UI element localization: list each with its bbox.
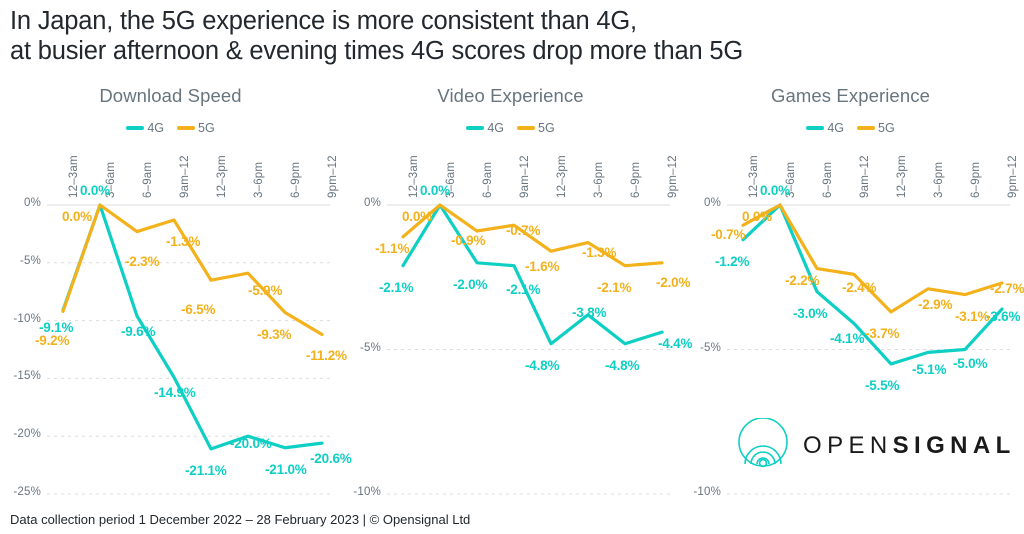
x-axis-tick-label: 9pm–12 <box>1007 155 1019 198</box>
y-axis-tick-label: -5% <box>340 342 381 354</box>
data-point-label: -5.1% <box>912 362 946 377</box>
data-point-label: -3.6% <box>986 309 1020 324</box>
data-point-label: -5.9% <box>248 283 282 298</box>
y-axis-tick-label: -10% <box>680 486 721 498</box>
x-axis-tick-label: 9am–12 <box>859 155 871 198</box>
data-point-label: -2.7% <box>990 281 1024 296</box>
chart-panel: Video Experience4G5G0%-5%-10%12–3am3–6am… <box>340 80 681 505</box>
data-point-label: -5.5% <box>865 378 899 393</box>
y-axis-tick-label: -5% <box>680 342 721 354</box>
data-point-label: -2.1% <box>506 282 540 297</box>
data-point-label: -4.8% <box>605 358 639 373</box>
x-axis-tick-label: 6–9am <box>142 162 154 198</box>
x-axis-tick-label: 9pm–12 <box>327 155 339 198</box>
x-axis-tick-label: 6–9pm <box>290 162 302 198</box>
data-point-label: -3.8% <box>572 305 606 320</box>
data-point-label: -3.7% <box>865 326 899 341</box>
data-point-label: -2.4% <box>842 280 876 295</box>
data-point-label: -6.5% <box>181 302 215 317</box>
series-line-5g <box>743 205 1002 312</box>
logo-word-open: OPEN <box>803 432 893 459</box>
x-axis-tick-label: 9pm–12 <box>667 155 679 198</box>
headline-line-2: at busier afternoon & evening times 4G s… <box>10 36 1014 66</box>
logo-word-signal: SIGNAL <box>893 432 1016 459</box>
x-axis-tick-label: 6–9pm <box>970 162 982 198</box>
data-point-label: -1.1% <box>375 241 409 256</box>
chart-plot-area <box>0 80 341 505</box>
data-point-label: -2.1% <box>379 280 413 295</box>
data-point-label: -2.0% <box>453 277 487 292</box>
data-point-label: -21.1% <box>185 463 227 478</box>
x-axis-tick-label: 6–9pm <box>630 162 642 198</box>
y-axis-tick-label: -25% <box>0 486 41 498</box>
x-axis-tick-label: 12–3pm <box>556 155 568 198</box>
data-point-label: -3.0% <box>793 306 827 321</box>
x-axis-tick-label: 12–3pm <box>896 155 908 198</box>
y-axis-tick-label: -5% <box>0 255 41 267</box>
x-axis-tick-label: 12–3pm <box>216 155 228 198</box>
x-axis-tick-label: 12–3am <box>748 155 760 198</box>
x-axis-tick-label: 9am–12 <box>519 155 531 198</box>
y-axis-tick-label: -20% <box>0 428 41 440</box>
data-point-label: -1.3% <box>582 245 616 260</box>
data-point-label: -2.1% <box>597 280 631 295</box>
y-axis-tick-label: -10% <box>340 486 381 498</box>
x-axis-tick-label: 6–9am <box>822 162 834 198</box>
y-axis-tick-label: 0% <box>0 197 41 209</box>
x-axis-tick-label: 3–6pm <box>933 162 945 198</box>
data-point-label: 0.0% <box>420 183 450 198</box>
data-point-label: -0.9% <box>451 233 485 248</box>
data-point-label: -2.3% <box>125 254 159 269</box>
headline-line-1: In Japan, the 5G experience is more cons… <box>10 6 1014 36</box>
data-point-label: -1.3% <box>166 234 200 249</box>
y-axis-tick-label: 0% <box>680 197 721 209</box>
data-point-label: 0.0% <box>760 183 790 198</box>
x-axis-tick-label: 3–6pm <box>253 162 265 198</box>
x-axis-tick-label: 3–6pm <box>593 162 605 198</box>
data-point-label: 0.0% <box>62 209 92 224</box>
y-axis-tick-label: -15% <box>0 370 41 382</box>
data-point-label: -0.7% <box>711 227 745 242</box>
data-point-label: -20.0% <box>230 436 272 451</box>
y-axis-tick-label: 0% <box>340 197 381 209</box>
x-axis-tick-label: 12–3am <box>68 155 80 198</box>
x-axis-tick-label: 12–3am <box>408 155 420 198</box>
opensignal-wordmark: OPENSIGNAL <box>803 432 1016 460</box>
x-axis-tick-label: 9am–12 <box>179 155 191 198</box>
data-point-label: -4.8% <box>525 358 559 373</box>
data-point-label: -9.2% <box>35 333 69 348</box>
data-point-label: -9.3% <box>257 327 291 342</box>
data-point-label: -5.0% <box>953 356 987 371</box>
chart-panel: Download Speed4G5G0%-5%-10%-15%-20%-25%1… <box>0 80 341 505</box>
y-axis-tick-label: -10% <box>0 313 41 325</box>
data-point-label: -1.2% <box>715 254 749 269</box>
opensignal-rings-icon <box>737 418 789 475</box>
opensignal-logo: OPENSIGNAL <box>737 418 999 474</box>
data-point-label: -14.9% <box>154 385 196 400</box>
data-point-label: 0.0% <box>742 209 772 224</box>
data-point-label: -4.1% <box>830 331 864 346</box>
data-point-label: 0.0% <box>402 209 432 224</box>
data-point-label: -3.1% <box>955 309 989 324</box>
data-point-label: 0.0% <box>80 183 110 198</box>
page-headline: In Japan, the 5G experience is more cons… <box>10 6 1014 66</box>
data-point-label: -2.2% <box>785 273 819 288</box>
x-axis-tick-label: 6–9am <box>482 162 494 198</box>
data-point-label: -21.0% <box>265 462 307 477</box>
data-point-label: -2.9% <box>918 297 952 312</box>
data-point-label: -0.7% <box>506 223 540 238</box>
data-point-label: -1.6% <box>525 259 559 274</box>
data-point-label: -9.6% <box>121 324 155 339</box>
footer-note: Data collection period 1 December 2022 –… <box>10 512 470 527</box>
